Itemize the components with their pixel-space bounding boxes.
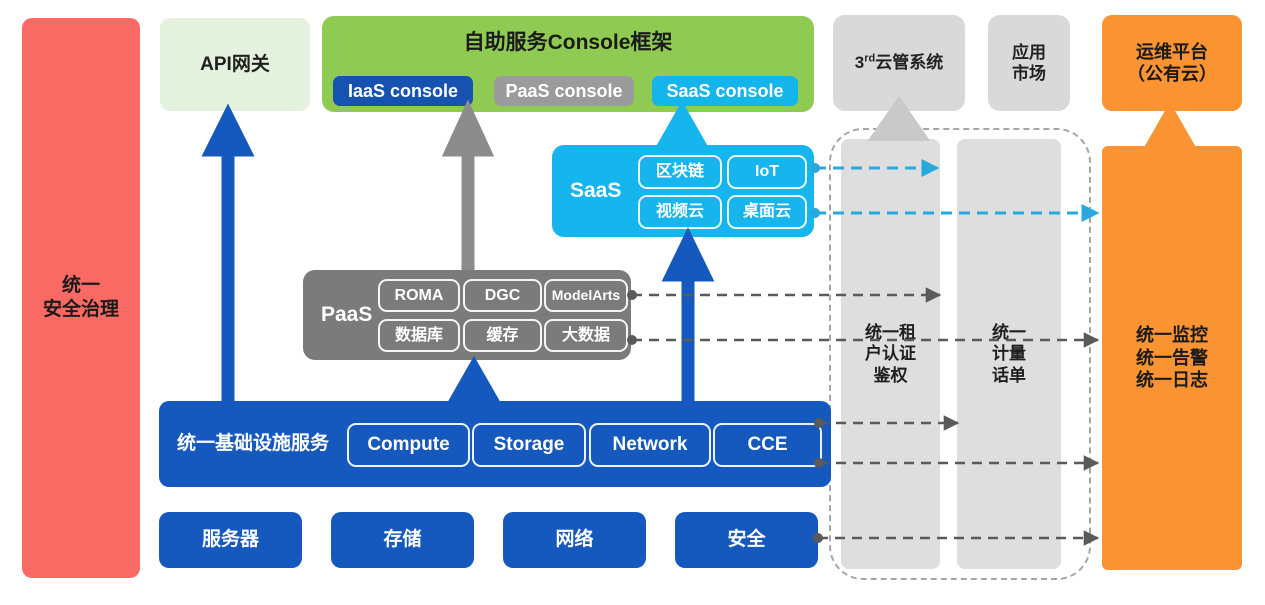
paas-panel: PaaS ROMA DGC ModelArts 数据库 缓存 大数据 [303, 270, 631, 360]
security-governance-panel: 统一 安全治理 [22, 18, 140, 578]
saas-item-video-cloud[interactable]: 视频云 [638, 195, 722, 229]
hardware-network-label: 网络 [555, 528, 593, 552]
hardware-security-label: 安全 [727, 528, 765, 552]
arrow-paas-to-console [452, 115, 484, 270]
saas-item-iot[interactable]: IoT [727, 155, 807, 189]
monitoring-line1: 统一监控 [1136, 324, 1208, 347]
paas-item-roma[interactable]: ROMA [378, 279, 460, 312]
security-governance-line1: 统一 [62, 274, 100, 298]
saas-item-desktop-cloud[interactable]: 桌面云 [727, 195, 807, 229]
infra-item-network[interactable]: Network [589, 423, 711, 467]
unified-infrastructure-panel: 统一基础设施服务 Compute Storage Network CCE [159, 401, 831, 487]
metering-billing-line3: 话单 [992, 365, 1026, 386]
chip-saas-console[interactable]: SaaS console [652, 76, 798, 106]
app-market-box: 应用 市场 [988, 15, 1070, 111]
tenant-auth-line3: 鉴权 [874, 365, 908, 386]
arrow-infra-to-api-gateway [212, 118, 244, 401]
paas-item-database[interactable]: 数据库 [378, 319, 460, 352]
architecture-diagram: 统一 安全治理 API网关 自助服务Console框架 IaaS console… [0, 0, 1265, 605]
metering-billing-column: 统一 计量 话单 [957, 139, 1061, 569]
console-framework-panel: 自助服务Console框架 IaaS console PaaS console … [322, 16, 814, 112]
chip-iaas-console[interactable]: IaaS console [333, 76, 473, 106]
hardware-storage-label: 存储 [383, 528, 421, 552]
paas-item-database-label: 数据库 [395, 326, 443, 346]
ops-platform-line2: （公有云） [1127, 63, 1217, 86]
arrow-infra-to-saas [672, 242, 704, 401]
api-gateway-label: API网关 [200, 53, 270, 77]
paas-item-cache[interactable]: 缓存 [463, 319, 542, 352]
arrow-infra-to-paas [458, 368, 490, 401]
saas-item-iot-label: IoT [755, 162, 779, 182]
chip-iaas-console-label: IaaS console [348, 80, 458, 103]
hardware-network-box: 网络 [503, 512, 646, 568]
tenant-auth-column: 统一租 户认证 鉴权 [841, 139, 940, 569]
third-party-cloud-label: 3rd云管系统 [855, 52, 943, 73]
hardware-server-label: 服务器 [202, 528, 259, 552]
infra-item-network-label: Network [613, 433, 688, 457]
infra-item-cce-label: CCE [747, 433, 787, 457]
infra-item-cce[interactable]: CCE [713, 423, 822, 467]
console-framework-title: 自助服务Console框架 [322, 30, 814, 56]
arrow-saas-to-console [666, 114, 698, 145]
monitoring-panel: 统一监控 统一告警 统一日志 [1102, 146, 1242, 570]
security-governance-line2: 安全治理 [43, 298, 119, 322]
saas-item-blockchain-label: 区块链 [656, 162, 704, 182]
paas-item-dgc[interactable]: DGC [463, 279, 542, 312]
ops-platform-line1: 运维平台 [1136, 41, 1208, 64]
arrow-monitoring-to-ops-platform [1154, 115, 1186, 146]
infra-item-storage[interactable]: Storage [472, 423, 586, 467]
paas-item-cache-label: 缓存 [486, 326, 518, 346]
saas-item-blockchain[interactable]: 区块链 [638, 155, 722, 189]
paas-item-bigdata[interactable]: 大数据 [544, 319, 628, 352]
chip-saas-console-label: SaaS console [666, 80, 783, 103]
paas-item-modelarts-label: ModelArts [552, 287, 620, 305]
paas-item-bigdata-label: 大数据 [562, 326, 610, 346]
saas-item-desktop-cloud-label: 桌面云 [743, 202, 791, 222]
saas-item-video-cloud-label: 视频云 [656, 202, 704, 222]
chip-paas-console[interactable]: PaaS console [494, 76, 634, 106]
saas-label: SaaS [570, 178, 621, 204]
metering-billing-line2: 计量 [992, 343, 1026, 364]
tenant-auth-line1: 统一租 [865, 322, 916, 343]
api-gateway-box: API网关 [160, 18, 310, 111]
tenant-auth-line2: 户认证 [865, 343, 916, 364]
ops-platform-box: 运维平台 （公有云） [1102, 15, 1242, 111]
monitoring-line2: 统一告警 [1136, 347, 1208, 370]
hardware-server-box: 服务器 [159, 512, 302, 568]
monitoring-line3: 统一日志 [1136, 369, 1208, 392]
paas-item-dgc-label: DGC [485, 286, 521, 306]
paas-label: PaaS [321, 302, 372, 328]
paas-item-roma-label: ROMA [395, 286, 444, 306]
hardware-security-box: 安全 [675, 512, 818, 568]
app-market-line2: 市场 [1012, 63, 1046, 84]
infra-item-compute[interactable]: Compute [347, 423, 470, 467]
app-market-line1: 应用 [1012, 42, 1046, 63]
paas-item-modelarts[interactable]: ModelArts [544, 279, 628, 312]
hardware-storage-box: 存储 [331, 512, 474, 568]
saas-panel: SaaS 区块链 IoT 视频云 桌面云 [552, 145, 814, 237]
chip-paas-console-label: PaaS console [505, 80, 622, 103]
third-party-cloud-box: 3rd云管系统 [833, 15, 965, 111]
unified-infrastructure-label: 统一基础设施服务 [177, 432, 329, 456]
metering-billing-line1: 统一 [992, 322, 1026, 343]
infra-item-storage-label: Storage [494, 433, 565, 457]
infra-item-compute-label: Compute [367, 433, 449, 457]
